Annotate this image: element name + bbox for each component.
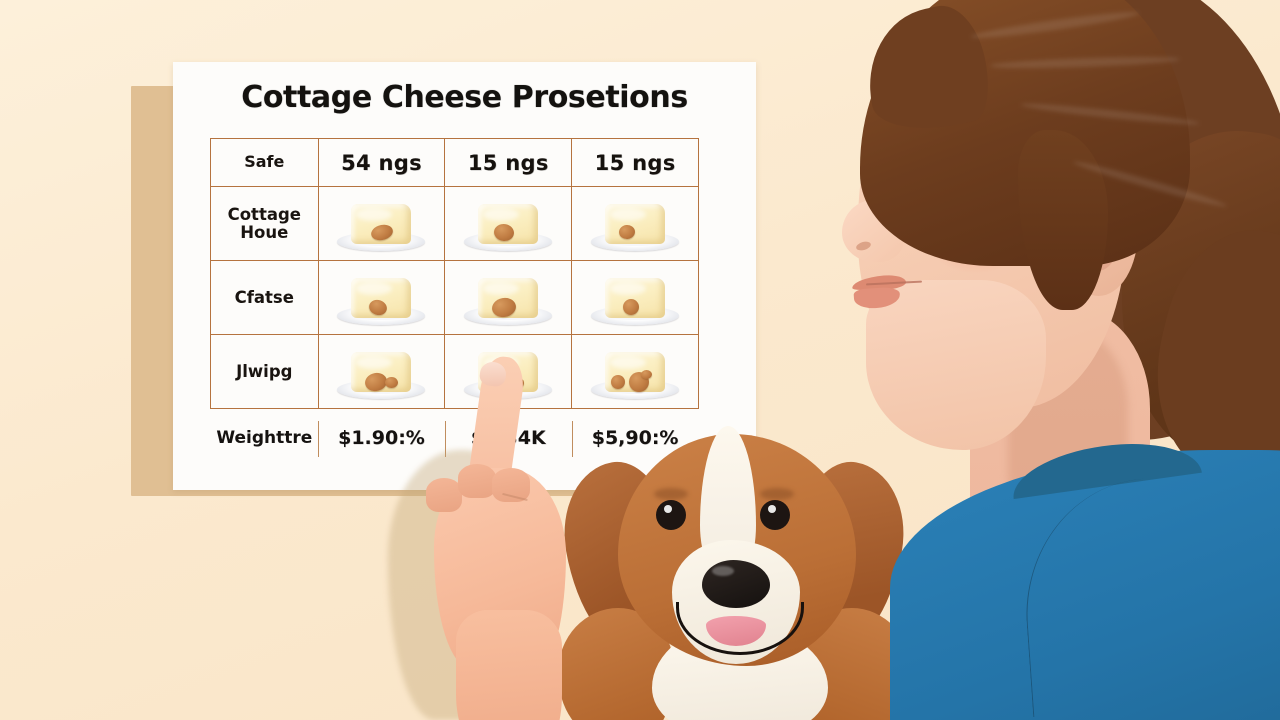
cheese-plate-icon (335, 195, 427, 253)
column-header-3: 15 ngs (572, 139, 699, 187)
cell-r1c1 (318, 187, 445, 261)
dog-nose (702, 560, 770, 608)
woman-illustration (820, 0, 1280, 720)
footer-label: Weighttre (211, 409, 319, 468)
pointing-hand (410, 360, 610, 720)
row-label-3: Jlwipg (211, 335, 319, 409)
dog-eye-right (760, 500, 790, 530)
table-header-row: Safe 54 ngs 15 ngs 15 ngs (211, 139, 699, 187)
cell-r1c3 (572, 187, 699, 261)
dog-nose-highlight (712, 566, 734, 576)
knuckle-1 (426, 478, 462, 512)
dog-brow-right (760, 488, 794, 500)
dog-eye-highlight-right (768, 505, 776, 513)
row-label-2: Cfatse (211, 261, 319, 335)
cheese-plate-icon (462, 195, 554, 253)
table-row: Cottage Houe (211, 187, 699, 261)
cell-r2c3 (572, 261, 699, 335)
knuckle-2 (458, 464, 496, 498)
table-corner-label: Safe (211, 139, 319, 187)
page-title: Cottage Cheese Prosetions (173, 80, 756, 115)
illustration-scene: Cottage Cheese Prosetions Safe 54 ngs 15… (0, 0, 1280, 720)
chin (866, 280, 1046, 450)
cheese-plate-icon (589, 195, 681, 253)
dog-brow-left (654, 488, 688, 500)
cell-r1c2 (445, 187, 572, 261)
table-row: Cfatse (211, 261, 699, 335)
wrist (456, 610, 562, 720)
column-header-2: 15 ngs (445, 139, 572, 187)
row-label-1: Cottage Houe (211, 187, 319, 261)
cell-r2c2 (445, 261, 572, 335)
column-header-1: 54 ngs (318, 139, 445, 187)
cheese-plate-icon (335, 269, 427, 327)
cell-r2c1 (318, 261, 445, 335)
knuckle-3 (492, 468, 530, 502)
cheese-plate-icon (462, 269, 554, 327)
cheese-plate-icon (589, 269, 681, 327)
dog-eye-highlight-left (664, 505, 672, 513)
dog-eye-left (656, 500, 686, 530)
